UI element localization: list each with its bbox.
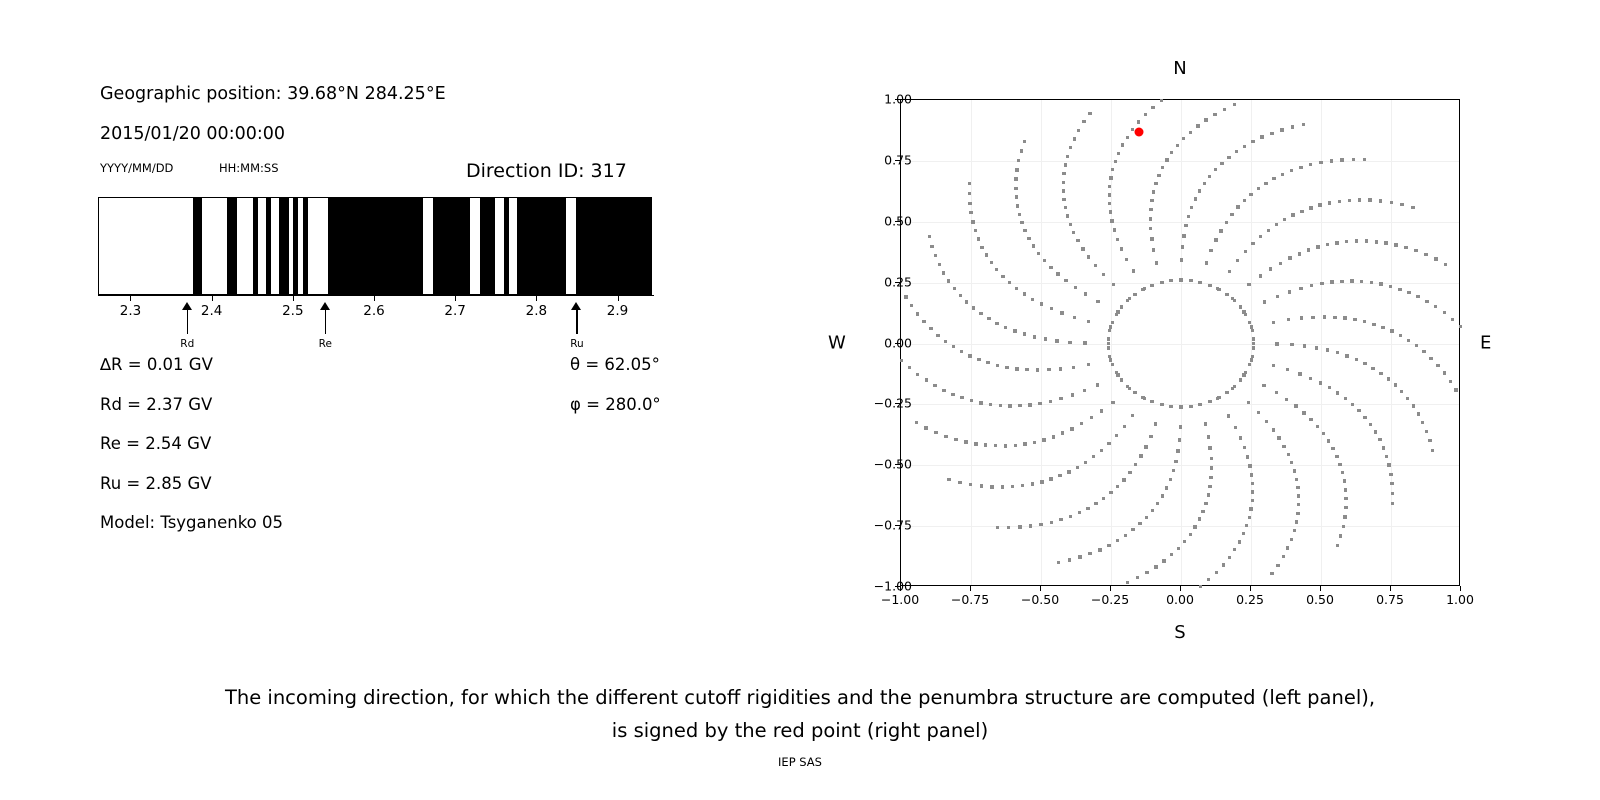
asymptotic-direction-point: [1210, 457, 1213, 460]
asymptotic-direction-point: [1178, 438, 1181, 441]
asymptotic-direction-point: [1049, 400, 1052, 403]
axis-tick-label: 2.4: [201, 303, 222, 319]
penumbra-chart: [98, 197, 652, 295]
asymptotic-direction-point: [1247, 401, 1250, 404]
asymptotic-direction-point: [1050, 521, 1053, 524]
asymptotic-direction-point: [1299, 287, 1302, 290]
asymptotic-direction-point: [915, 421, 918, 424]
asymptotic-direction-point: [1117, 152, 1120, 155]
asymptotic-direction-point: [1248, 516, 1251, 519]
asymptotic-direction-point: [1084, 461, 1087, 464]
x-tick-mark: [1460, 586, 1461, 591]
asymptotic-direction-point: [1344, 488, 1347, 491]
asymptotic-direction-point: [1291, 213, 1294, 216]
asymptotic-direction-point: [968, 182, 971, 185]
asymptotic-direction-point: [1179, 278, 1182, 281]
asymptotic-direction-point: [977, 358, 980, 361]
asymptotic-direction-point: [1262, 384, 1265, 387]
asymptotic-direction-point: [1227, 156, 1230, 159]
penumbra-band: [303, 198, 308, 294]
asymptotic-direction-point: [1296, 486, 1299, 489]
penumbra-band: [433, 198, 470, 294]
asymptotic-direction-point: [1064, 279, 1067, 282]
asymptotic-direction-point: [1126, 581, 1129, 584]
asymptotic-direction-point: [1033, 335, 1036, 338]
asymptotic-direction-point: [1107, 337, 1110, 340]
gridline-vertical: [971, 100, 972, 585]
asymptotic-direction-point: [1209, 476, 1212, 479]
asymptotic-direction-point: [1084, 292, 1087, 295]
asymptotic-direction-point: [1015, 195, 1018, 198]
penumbra-bar: [98, 197, 652, 295]
asymptotic-direction-point: [1252, 342, 1255, 345]
asymptotic-direction-point: [1300, 210, 1303, 213]
asymptotic-direction-point: [965, 300, 968, 303]
asymptotic-direction-point: [1239, 436, 1242, 439]
asymptotic-direction-point: [1194, 197, 1197, 200]
asymptotic-direction-point: [1333, 316, 1336, 319]
asymptotic-direction-point: [959, 294, 962, 297]
asymptotic-direction-point: [1316, 245, 1319, 248]
asymptotic-direction-point: [1102, 497, 1105, 500]
asymptotic-direction-point: [908, 366, 911, 369]
asymptotic-direction-point: [1294, 404, 1297, 407]
asymptotic-direction-point: [951, 393, 954, 396]
asymptotic-direction-point: [1128, 471, 1131, 474]
asymptotic-direction-point: [1352, 158, 1355, 161]
x-tick-label: −0.75: [951, 592, 989, 607]
asymptotic-direction-point: [1161, 166, 1164, 169]
asymptotic-direction-point: [1259, 274, 1262, 277]
asymptotic-direction-point: [1336, 391, 1339, 394]
asymptotic-direction-point: [1416, 295, 1419, 298]
asymptotic-direction-point: [1379, 199, 1382, 202]
asymptotic-direction-point: [1184, 224, 1187, 227]
asymptotic-direction-point: [1055, 339, 1058, 342]
asymptotic-direction-point: [1404, 246, 1407, 249]
asymptotic-direction-point: [995, 268, 998, 271]
asymptotic-direction-point: [1276, 564, 1279, 567]
asymptotic-direction-point: [1243, 145, 1246, 148]
asymptotic-direction-point: [1365, 239, 1368, 242]
asymptotic-direction-point: [1275, 223, 1278, 226]
asymptotic-direction-point: [990, 261, 993, 264]
asymptotic-direction-point: [1023, 442, 1026, 445]
asymptotic-direction-point: [1243, 199, 1246, 202]
asymptotic-direction-point: [1277, 436, 1280, 439]
asymptotic-direction-point: [1086, 507, 1089, 510]
x-tick-label: −0.50: [1021, 592, 1059, 607]
asymptotic-direction-point: [1390, 482, 1393, 485]
asymptotic-direction-point: [1390, 201, 1393, 204]
asymptotic-direction-point: [1357, 409, 1360, 412]
asymptotic-direction-point: [1282, 445, 1285, 448]
asymptotic-direction-point: [1098, 548, 1101, 551]
asymptotic-direction-point: [1272, 177, 1275, 180]
asymptotic-direction-point: [1238, 540, 1241, 543]
asymptotic-direction-point: [1131, 128, 1134, 131]
asymptotic-direction-point: [1339, 534, 1342, 537]
asymptotic-direction-point: [1018, 213, 1021, 216]
asymptotic-direction-point: [1353, 318, 1356, 321]
asymptotic-direction-point: [1341, 471, 1344, 474]
asymptotic-direction-point: [1343, 479, 1346, 482]
x-tick-label: 0.75: [1376, 592, 1404, 607]
asymptotic-direction-point: [1017, 159, 1020, 162]
asymptotic-direction-point: [1066, 214, 1069, 217]
asymptotic-direction-point: [1288, 290, 1291, 293]
asymptotic-direction-point: [1132, 269, 1135, 272]
asymptotic-direction-point: [922, 320, 925, 323]
asymptotic-direction-point: [970, 399, 973, 402]
asymptotic-direction-point: [1060, 311, 1063, 314]
asymptotic-direction-point: [1249, 193, 1252, 196]
asymptotic-direction-point: [1248, 321, 1251, 324]
parameter-left-4: Model: Tsyganenko 05: [100, 513, 283, 532]
asymptotic-direction-point: [1123, 425, 1126, 428]
asymptotic-direction-point: [1247, 283, 1250, 286]
asymptotic-direction-point: [1073, 316, 1076, 319]
asymptotic-direction-point: [938, 263, 941, 266]
asymptotic-direction-point: [1114, 160, 1117, 163]
asymptotic-direction-point: [1068, 341, 1071, 344]
axis-tick: [130, 295, 131, 301]
asymptotic-direction-point: [1154, 422, 1157, 425]
asymptotic-direction-point: [1338, 463, 1341, 466]
asymptotic-direction-point: [1233, 548, 1236, 551]
asymptotic-direction-point: [1109, 210, 1112, 213]
asymptotic-direction-point: [1270, 572, 1273, 575]
asymptotic-direction-point: [1069, 515, 1072, 518]
asymptotic-direction-point: [1064, 163, 1067, 166]
asymptotic-direction-point: [1032, 244, 1035, 247]
asymptotic-direction-point: [1047, 368, 1050, 371]
asymptotic-direction-point: [1443, 311, 1446, 314]
asymptotic-direction-point: [1058, 474, 1061, 477]
parameter-left-0: ∆R = 0.01 GV: [100, 355, 213, 374]
asymptotic-direction-point: [1072, 366, 1075, 369]
asymptotic-direction-point: [1369, 423, 1372, 426]
asymptotic-direction-point: [1169, 279, 1172, 282]
asymptotic-direction-point: [1020, 221, 1023, 224]
asymptotic-direction-point: [1222, 563, 1225, 566]
asymptotic-direction-point: [1023, 292, 1026, 295]
asymptotic-direction-point: [1407, 291, 1410, 294]
asymptotic-direction-point: [1411, 206, 1414, 209]
asymptotic-direction-point: [1214, 168, 1217, 171]
asymptotic-direction-point: [1083, 341, 1086, 344]
asymptotic-direction-point: [1227, 414, 1230, 417]
asymptotic-direction-point: [1076, 466, 1079, 469]
asymptotic-direction-point: [1363, 416, 1366, 419]
compass-west-label: W: [828, 332, 846, 353]
asymptotic-direction-point: [979, 401, 982, 404]
asymptotic-direction-point: [1038, 402, 1041, 405]
asymptotic-direction-point: [1389, 285, 1392, 288]
axis-tick-label: 2.6: [363, 303, 384, 319]
asymptotic-direction-point: [1269, 267, 1272, 270]
asymptotic-direction-point: [1059, 367, 1062, 370]
asymptotic-direction-point: [1015, 367, 1018, 370]
asymptotic-direction-point: [1336, 351, 1339, 354]
asymptotic-direction-point: [1040, 480, 1043, 483]
asymptotic-direction-point: [1115, 313, 1118, 316]
asymptotic-direction-point: [969, 483, 972, 486]
asymptotic-direction-point: [1115, 434, 1118, 437]
asymptotic-direction-point: [1257, 187, 1260, 190]
asymptotic-direction-point: [1381, 326, 1384, 329]
footer-label: IEP SAS: [0, 755, 1600, 769]
y-tick-mark: [895, 99, 900, 100]
asymptotic-direction-point: [1244, 250, 1247, 253]
penumbra-band: [517, 198, 566, 294]
axis-tick-label: 2.5: [282, 303, 303, 319]
asymptotic-direction-point: [1280, 128, 1283, 131]
asymptotic-direction-point: [1011, 485, 1014, 488]
asymptotic-direction-point: [1251, 355, 1254, 358]
asymptotic-direction-point: [1120, 305, 1123, 308]
asymptotic-direction-point: [1302, 123, 1305, 126]
asymptotic-direction-point: [1295, 478, 1298, 481]
asymptotic-direction-point: [1181, 245, 1184, 248]
asymptotic-direction-point: [1287, 318, 1290, 321]
asymptotic-direction-point: [1187, 215, 1190, 218]
asymptotic-direction-point: [1080, 422, 1083, 425]
asymptotic-direction-point: [1149, 227, 1152, 230]
asymptotic-direction-point: [1250, 358, 1253, 361]
asymptotic-direction-point: [1165, 158, 1168, 161]
asymptotic-direction-point: [1288, 256, 1291, 259]
rigidity-marker-label: Rd: [180, 338, 194, 350]
asymptotic-direction-point: [1139, 454, 1142, 457]
asymptotic-direction-point: [1088, 112, 1091, 115]
asymptotic-direction-point: [1137, 120, 1140, 123]
asymptotic-direction-point: [1330, 280, 1333, 283]
asymptotic-direction-point: [996, 526, 999, 529]
asymptotic-direction-point: [1291, 125, 1294, 128]
asymptotic-direction-point: [1239, 305, 1242, 308]
asymptotic-direction-point: [1070, 427, 1073, 430]
asymptotic-direction-point: [1108, 202, 1111, 205]
asymptotic-direction-point: [1023, 229, 1026, 232]
asymptotic-direction-point: [1276, 295, 1279, 298]
asymptotic-direction-point: [1078, 555, 1081, 558]
asymptotic-direction-point: [1228, 270, 1231, 273]
asymptotic-direction-point: [1133, 391, 1136, 394]
left-panel: Geographic position: 39.68°N 284.25°E 20…: [0, 0, 760, 660]
asymptotic-direction-point: [1414, 249, 1417, 252]
asymptotic-direction-point: [1107, 342, 1110, 345]
asymptotic-direction-point: [1355, 239, 1358, 242]
asymptotic-direction-point: [1049, 477, 1052, 480]
asymptotic-direction-point: [1150, 400, 1153, 403]
asymptotic-direction-point: [990, 485, 993, 488]
caption-line-2: is signed by the red point (right panel): [0, 719, 1600, 742]
asymptotic-direction-point: [1391, 502, 1394, 505]
asymptotic-direction-point: [1290, 538, 1293, 541]
gridline-horizontal: [901, 526, 1459, 527]
asymptotic-direction-point: [1100, 409, 1103, 412]
asymptotic-direction-point: [1422, 350, 1425, 353]
gridline-vertical: [1111, 100, 1112, 585]
asymptotic-direction-point: [1257, 411, 1260, 414]
asymptotic-direction-point: [1190, 206, 1193, 209]
x-tick-label: 0.50: [1306, 592, 1334, 607]
asymptotic-direction-point: [1109, 358, 1112, 361]
asymptotic-direction-point: [1250, 473, 1253, 476]
asymptotic-direction-point: [1428, 439, 1431, 442]
selected-direction-marker[interactable]: [1135, 127, 1144, 136]
asymptotic-direction-point: [1425, 300, 1428, 303]
asymptotic-direction-point: [985, 253, 988, 256]
asymptotic-direction-point: [1272, 428, 1275, 431]
asymptotic-direction-point: [1170, 151, 1173, 154]
asymptotic-direction-point: [1014, 177, 1017, 180]
asymptotic-direction-point: [1309, 377, 1312, 380]
asymptotic-direction-point: [1096, 300, 1099, 303]
asymptotic-direction-point: [1111, 401, 1114, 404]
asymptotic-direction-point: [1036, 368, 1039, 371]
asymptotic-direction-point: [1394, 243, 1397, 246]
asymptotic-direction-point: [1096, 383, 1099, 386]
asymptotic-direction-point: [1293, 469, 1296, 472]
asymptotic-direction-point: [1150, 199, 1153, 202]
asymptotic-direction-point: [1235, 150, 1238, 153]
asymptotic-direction-point: [1298, 252, 1301, 255]
x-tick-mark: [900, 586, 901, 591]
asymptotic-direction-point: [1121, 143, 1124, 146]
axis-tick: [455, 295, 456, 301]
y-tick-mark: [895, 343, 900, 344]
asymptotic-direction-point: [1417, 412, 1420, 415]
asymptotic-direction-point: [1286, 368, 1289, 371]
penumbra-band: [253, 198, 258, 294]
asymptotic-direction-point: [1189, 279, 1192, 282]
asymptotic-direction-point: [1251, 482, 1254, 485]
asymptotic-direction-point: [1207, 578, 1210, 581]
asymptotic-direction-point: [1108, 193, 1111, 196]
asymptotic-direction-point: [1444, 263, 1447, 266]
asymptotic-direction-point: [1249, 507, 1252, 510]
asymptotic-direction-point: [1007, 526, 1010, 529]
asymptotic-direction-point: [1374, 430, 1377, 433]
asymptotic-direction-point: [900, 359, 903, 362]
asymptotic-direction-point: [1160, 281, 1163, 284]
asymptotic-direction-point: [1077, 129, 1080, 132]
arrow-shaft: [576, 308, 577, 334]
geographic-position-label: Geographic position: 39.68°N 284.25°E: [100, 84, 446, 104]
asymptotic-direction-point: [1141, 396, 1144, 399]
asymptotic-direction-point: [1300, 316, 1303, 319]
asymptotic-direction-point: [1122, 478, 1125, 481]
asymptotic-direction-point: [1176, 449, 1179, 452]
asymptotic-direction-point: [1248, 464, 1251, 467]
asymptotic-direction-point: [1363, 158, 1366, 161]
asymptotic-direction-point: [1355, 358, 1358, 361]
asymptotic-direction-point: [1172, 469, 1175, 472]
asymptotic-direction-point: [1307, 248, 1310, 251]
asymptotic-direction-point: [1109, 176, 1112, 179]
asymptotic-direction-point: [936, 334, 939, 337]
asymptotic-direction-point: [1161, 494, 1164, 497]
asymptotic-direction-point: [1066, 155, 1069, 158]
asymptotic-direction-point: [1207, 493, 1210, 496]
parameter-left-1: Rd = 2.37 GV: [100, 395, 212, 414]
asymptotic-direction-point: [1133, 293, 1136, 296]
asymptotic-direction-point: [1248, 363, 1251, 366]
asymptotic-direction-point: [1385, 455, 1388, 458]
asymptotic-direction-point: [1087, 363, 1090, 366]
asymptotic-direction-point: [1176, 144, 1179, 147]
asymptotic-direction-point: [1309, 418, 1312, 421]
penumbra-band: [279, 198, 289, 294]
penumbra-band: [576, 198, 651, 294]
asymptotic-direction-point: [1013, 329, 1016, 332]
asymptotic-direction-point: [1311, 316, 1314, 319]
asymptotic-direction-point: [1025, 368, 1028, 371]
asymptotic-direction-point: [1062, 172, 1065, 175]
asymptotic-direction-point: [930, 245, 933, 248]
asymptotic-direction-point: [1180, 258, 1183, 261]
asymptotic-direction-point: [1265, 420, 1268, 423]
asymptotic-direction-point: [1116, 539, 1119, 542]
gridline-vertical: [1041, 100, 1042, 585]
asymptotic-direction-point: [1344, 497, 1347, 500]
asymptotic-direction-point: [974, 442, 977, 445]
date-format-hint: YYYY/MM/DD: [100, 161, 173, 175]
asymptotic-direction-point: [1014, 187, 1017, 190]
asymptotic-direction-point: [1343, 316, 1346, 319]
asymptotic-direction-point: [1340, 280, 1343, 283]
asymptotic-direction-point: [1152, 248, 1155, 251]
asymptotic-direction-point: [1309, 206, 1312, 209]
asymptotic-direction-point: [933, 384, 936, 387]
asymptotic-direction-point: [1120, 378, 1123, 381]
asymptotic-direction-point: [1150, 237, 1153, 240]
asymptotic-direction-point: [1345, 354, 1348, 357]
asymptotic-direction-point: [1296, 512, 1299, 515]
asymptotic-direction-point: [1031, 482, 1034, 485]
asymptotic-direction-point: [1244, 313, 1247, 316]
asymptotic-direction-point: [1345, 240, 1348, 243]
asymptotic-direction-point: [1069, 223, 1072, 226]
asymptotic-direction-point: [1251, 490, 1254, 493]
asymptotic-direction-point: [1004, 444, 1007, 447]
asymptotic-direction-point: [1154, 182, 1157, 185]
asymptotic-direction-point: [1290, 343, 1293, 346]
asymptotic-direction-point: [980, 484, 983, 487]
asymptotic-direction-point: [1387, 463, 1390, 466]
asymptotic-direction-point: [1327, 439, 1330, 442]
asymptotic-direction-point: [1379, 372, 1382, 375]
asymptotic-direction-point: [1023, 332, 1026, 335]
asymptotic-direction-point: [1020, 149, 1023, 152]
asymptotic-direction-point: [989, 403, 992, 406]
x-tick-label: 1.00: [1446, 592, 1474, 607]
penumbra-band: [266, 198, 271, 294]
asymptotic-direction-point: [1149, 217, 1152, 220]
asymptotic-direction-point: [934, 431, 937, 434]
asymptotic-direction-point: [1406, 397, 1409, 400]
asymptotic-direction-point: [1434, 305, 1437, 308]
asymptotic-direction-point: [1205, 261, 1208, 264]
y-tick-mark: [895, 160, 900, 161]
y-tick-label: −0.50: [874, 457, 912, 472]
asymptotic-direction-point: [1379, 282, 1382, 285]
asymptotic-direction-point: [1360, 280, 1363, 283]
asymptotic-direction-point: [1412, 404, 1415, 407]
asymptotic-direction-point: [1107, 544, 1110, 547]
